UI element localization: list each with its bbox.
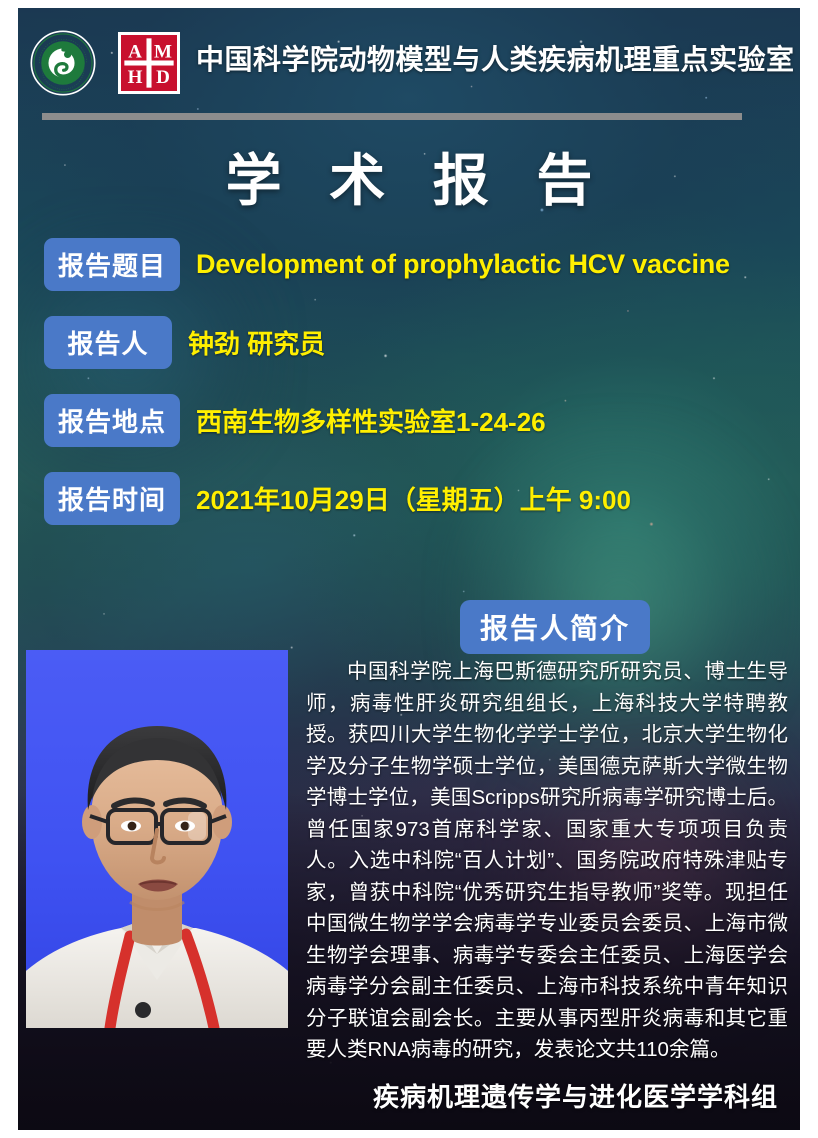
info-label-datetime: 报告时间 [44,472,180,525]
lab-name-title: 中国科学院动物模型与人类疾病机理重点实验室 [196,38,795,78]
research-group-footer: 疾病机理遗传学与进化医学学科组 [373,1077,778,1114]
svg-text:M: M [154,41,172,62]
info-label-venue: 报告地点 [44,394,180,447]
speaker-bio-text: 中国科学院上海巴斯德研究所研究员、博士生导师，病毒性肝炎研究组组长，上海科技大学… [306,656,788,1066]
info-row-topic: 报告题目 Development of prophylactic HCV vac… [18,236,800,292]
speaker-portrait-photo [26,650,288,1028]
info-row-venue: 报告地点 西南生物多样性实验室1-24-26 [18,392,800,448]
svg-text:H: H [128,67,143,88]
info-value-topic: Development of prophylactic HCV vaccine [196,249,730,280]
seminar-info-list: 报告题目 Development of prophylactic HCV vac… [18,236,800,548]
info-value-datetime: 2021年10月29日（星期五）上午 9:00 [196,480,631,517]
svg-text:D: D [156,67,170,88]
svg-text:A: A [128,41,142,62]
info-row-speaker: 报告人 钟劲 研究员 [18,314,800,370]
header-divider [42,113,742,120]
amhd-lab-logo: A M H D [118,32,180,94]
speaker-bio-heading: 报告人简介 [460,600,650,654]
info-value-speaker: 钟劲 研究员 [188,324,325,361]
info-row-datetime: 报告时间 2021年10月29日（星期五）上午 9:00 [18,470,800,526]
info-label-topic: 报告题目 [44,238,180,291]
seminar-poster: A M H D 中国科学院动物模型与人类疾病机理重点实验室 学 术 报 告 报告… [18,8,800,1130]
kunming-institute-of-zoology-cas-logo [30,30,96,96]
info-label-speaker: 报告人 [44,316,172,369]
info-value-venue: 西南生物多样性实验室1-24-26 [196,402,546,439]
poster-header: A M H D 中国科学院动物模型与人类疾病机理重点实验室 [18,8,800,114]
page-title: 学 术 报 告 [18,136,800,217]
